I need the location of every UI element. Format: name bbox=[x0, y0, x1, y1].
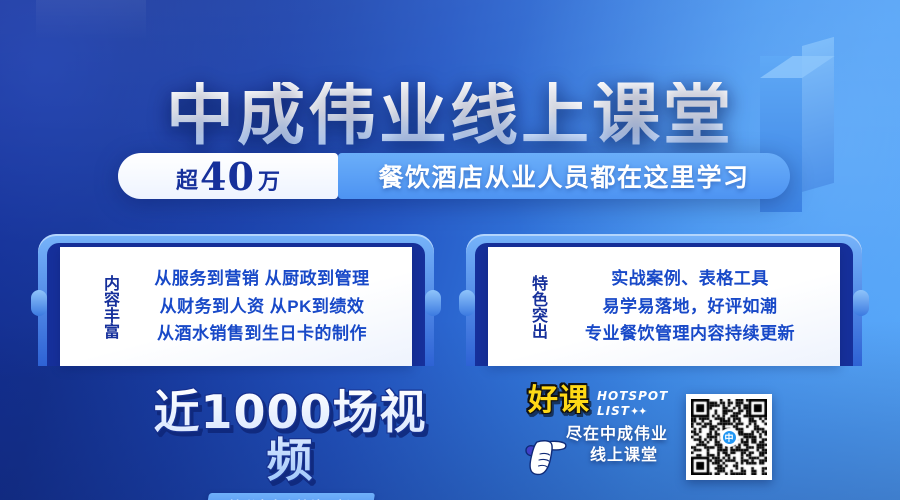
pointing-hand-icon bbox=[522, 426, 568, 478]
video-count-block: 近1000场视频 精彩内容丨持续更新 bbox=[140, 388, 440, 500]
feature-box-group: 内容丰富 从服务到营销 从厨政到管理 从财务到人资 从PK到绩效 从酒水销售到生… bbox=[38, 234, 862, 366]
video-update-pill: 精彩内容丨持续更新 bbox=[205, 493, 375, 500]
hotspot-line-2: LIST bbox=[597, 404, 630, 418]
qr-code[interactable]: 中 bbox=[686, 394, 772, 480]
feature-box-content-rich: 内容丰富 从服务到营销 从厨政到管理 从财务到人资 从PK到绩效 从酒水销售到生… bbox=[38, 234, 434, 366]
frame-knob-right bbox=[853, 290, 869, 316]
qr-code-matrix: 中 bbox=[691, 399, 767, 475]
background-glow-right bbox=[500, 0, 900, 440]
brand-lockup: 好课 HOTSPOT LIST✦✦ 尽在中成伟业 线上课堂 bbox=[520, 386, 690, 482]
badge-number: 40 bbox=[200, 154, 255, 199]
hotspot-line-1: HOTSPOT bbox=[597, 389, 668, 404]
feature-line: 实战案例、表格工具 bbox=[546, 265, 834, 293]
page-title: 中成伟业线上课堂 bbox=[0, 82, 900, 150]
frame-knob-left bbox=[459, 290, 475, 316]
frame-knob-left bbox=[31, 290, 47, 316]
badge-unit-label: 万 bbox=[258, 164, 280, 196]
feature-line: 从财务到人资 从PK到绩效 bbox=[118, 293, 406, 321]
brand-tagline: 尽在中成伟业 线上课堂 bbox=[520, 424, 690, 466]
sparkle-icon: ✦✦ bbox=[630, 405, 646, 418]
tagline-line-1: 尽在中成伟业 bbox=[566, 424, 690, 445]
feature-line: 专业餐饮管理内容持续更新 bbox=[546, 320, 834, 348]
feature-line: 从服务到营销 从厨政到管理 bbox=[118, 265, 406, 293]
frame-knob-right bbox=[425, 290, 441, 316]
feature-box-card: 内容丰富 从服务到营销 从厨政到管理 从财务到人资 从PK到绩效 从酒水销售到生… bbox=[60, 247, 412, 366]
feature-line: 易学易落地，好评如潮 bbox=[546, 293, 834, 321]
feature-box-standout: 特色突出 实战案例、表格工具 易学易落地，好评如潮 专业餐饮管理内容持续更新 bbox=[466, 234, 862, 366]
badge-prefix-label: 超 bbox=[176, 163, 198, 195]
subtitle-text: 餐饮酒店从业人员都在这里学习 bbox=[338, 153, 790, 199]
background-slab-left bbox=[36, 0, 146, 40]
feature-box-lines: 实战案例、表格工具 易学易落地，好评如潮 专业餐饮管理内容持续更新 bbox=[546, 265, 840, 348]
haoke-label: 好课 bbox=[528, 386, 590, 416]
hotspot-list-label: HOTSPOT LIST✦✦ bbox=[597, 386, 668, 420]
feature-box-card: 特色突出 实战案例、表格工具 易学易落地，好评如潮 专业餐饮管理内容持续更新 bbox=[488, 247, 840, 366]
promo-banner: 中成伟业线上课堂 超 40 万 餐饮酒店从业人员都在这里学习 内容丰富 从服务到… bbox=[0, 0, 900, 500]
video-update-pill-label: 精彩内容丨持续更新 bbox=[229, 495, 351, 500]
video-count-headline: 近1000场视频 bbox=[140, 388, 440, 485]
feature-box-vertical-label: 内容丰富 bbox=[68, 275, 118, 339]
brand-lockup-top: 好课 HOTSPOT LIST✦✦ bbox=[520, 386, 690, 420]
feature-line: 从酒水销售到生日卡的制作 bbox=[118, 320, 406, 348]
subtitle-row: 超 40 万 餐饮酒店从业人员都在这里学习 bbox=[118, 153, 790, 199]
qr-center-logo-icon: 中 bbox=[721, 429, 738, 446]
tagline-line-2: 线上课堂 bbox=[566, 445, 690, 466]
hotspot-line-2-wrap: LIST✦✦ bbox=[597, 404, 668, 419]
feature-box-lines: 从服务到营销 从厨政到管理 从财务到人资 从PK到绩效 从酒水销售到生日卡的制作 bbox=[118, 265, 412, 348]
cube-top-face bbox=[760, 56, 835, 78]
user-count-badge: 超 40 万 bbox=[118, 153, 338, 199]
feature-box-vertical-label: 特色突出 bbox=[496, 275, 546, 339]
